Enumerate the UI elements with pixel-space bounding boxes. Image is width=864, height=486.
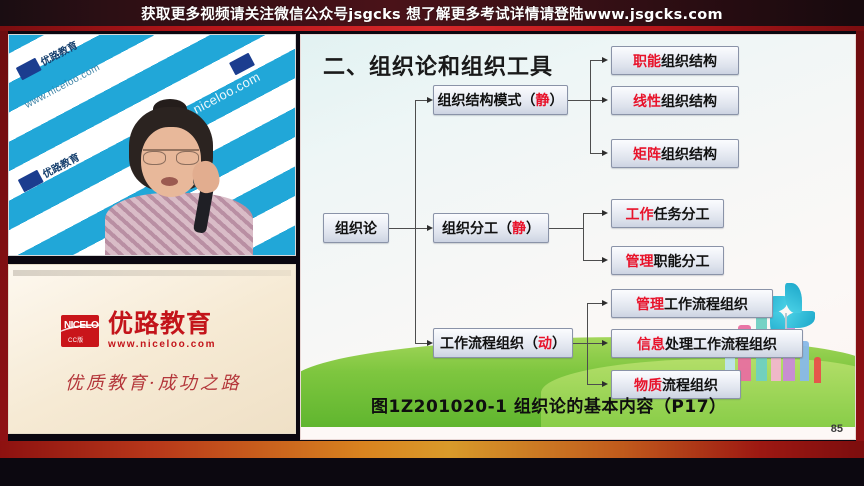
node-b3-child-2[interactable]: 信息处理工作流程组织 <box>611 329 803 358</box>
node-branch-3[interactable]: 工作流程组织（动） <box>433 328 573 358</box>
connector-b1-c1 <box>590 60 602 61</box>
connector-trunk <box>415 100 416 343</box>
letterbox-bottom <box>0 458 864 486</box>
connector-b2-out <box>549 228 583 229</box>
brand-tagline: 优质教育·成功之路 <box>65 369 242 395</box>
presenter-mouth <box>161 177 178 186</box>
node-b3-child-2-label: 信息处理工作流程组织 <box>637 334 777 354</box>
connector-b1-out <box>568 100 590 101</box>
node-b2-child-2[interactable]: 管理职能分工 <box>611 246 724 275</box>
slide-title: 二、组织论和组织工具 <box>323 49 553 81</box>
arrow-b2-c1 <box>602 210 608 216</box>
connector-to-branch-3 <box>415 343 427 344</box>
node-b3-child-1[interactable]: 管理工作流程组织 <box>611 289 773 318</box>
logo-mark-bottom-text: CC版 <box>68 335 84 344</box>
brand-wordmark: 优路教育 www.niceloo.com <box>108 311 216 350</box>
brand-name-cn: 优路教育 <box>108 311 216 336</box>
arrow-b3-c3 <box>602 381 608 387</box>
node-b2-child-1[interactable]: 工作任务分工 <box>611 199 724 228</box>
node-root-label: 组织论 <box>335 218 377 238</box>
node-b1-child-3[interactable]: 矩阵组织结构 <box>611 139 739 168</box>
node-b3-child-1-label: 管理工作流程组织 <box>636 294 748 314</box>
presenter-figure <box>101 105 251 255</box>
node-b1-child-1[interactable]: 职能组织结构 <box>611 46 739 75</box>
connector-b2-c1 <box>583 213 602 214</box>
arrow-b1-c2 <box>602 97 608 103</box>
pinwheel-blade-4 <box>785 283 802 313</box>
frame-right-border <box>856 31 864 441</box>
slide-page-number: 85 <box>831 423 843 435</box>
connector-b1-c3 <box>590 153 602 154</box>
node-branch-3-label: 工作流程组织（动） <box>440 333 566 353</box>
pinwheel-blade-1 <box>785 311 815 328</box>
screen: 获取更多视频请关注微信公众号jsgcks 想了解更多考试详情请登陆www.jsg… <box>0 0 864 486</box>
presentation-slide: 二、组织论和组织工具 <box>300 34 856 440</box>
brand-logo-row: NICELOO CC版 优路教育 www.niceloo.com <box>61 311 216 350</box>
connector-b2-c2 <box>583 260 602 261</box>
arrow-b3-c1 <box>602 300 608 306</box>
presenter-torso <box>105 193 253 255</box>
connector-to-branch-2 <box>415 228 427 229</box>
connector-to-branch-1 <box>415 100 427 101</box>
connector-root-out <box>389 228 415 229</box>
node-branch-2[interactable]: 组织分工（静） <box>433 213 549 243</box>
connector-b3-out <box>573 343 587 344</box>
promo-banner: 获取更多视频请关注微信公众号jsgcks 想了解更多考试详情请登陆www.jsg… <box>0 0 864 26</box>
node-branch-2-label: 组织分工（静） <box>442 218 540 238</box>
node-b2-child-1-label: 工作任务分工 <box>626 204 710 224</box>
arrow-b2-c2 <box>602 257 608 263</box>
node-branch-1-label: 组织结构模式（静） <box>438 90 564 110</box>
brand-url: www.niceloo.com <box>108 339 216 350</box>
node-b1-child-1-label: 职能组织结构 <box>633 51 717 71</box>
banner-underline <box>0 26 864 31</box>
slide-bottom-strip <box>301 427 855 439</box>
frame-bottom-border <box>0 441 864 458</box>
node-b1-child-2-label: 线性组织结构 <box>633 91 717 111</box>
node-b2-child-2-label: 管理职能分工 <box>626 251 710 271</box>
video-panel[interactable]: 优路教育 www.niceloo.com www.niceloo.com www… <box>8 34 296 256</box>
connector-b1-bus <box>590 60 591 153</box>
promo-banner-text: 获取更多视频请关注微信公众号jsgcks 想了解更多考试详情请登陆www.jsg… <box>141 3 723 24</box>
frame-left-border <box>0 31 8 441</box>
connector-b3-c1 <box>587 303 602 304</box>
connector-b3-c2 <box>587 343 602 344</box>
arrow-b3-c2 <box>602 340 608 346</box>
node-b1-child-3-label: 矩阵组织结构 <box>633 144 717 164</box>
connector-b3-c3 <box>587 384 602 385</box>
presenter-glasses <box>143 149 199 164</box>
node-branch-1[interactable]: 组织结构模式（静） <box>433 85 568 115</box>
figure-caption: 图1Z201020-1 组织论的基本内容（P17） <box>371 392 727 417</box>
arrow-b1-c1 <box>602 57 608 63</box>
panel-top-shading <box>13 270 291 276</box>
node-root[interactable]: 组织论 <box>323 213 389 243</box>
brand-logo-panel: NICELOO CC版 优路教育 www.niceloo.com 优质教育·成功… <box>8 264 296 434</box>
node-b1-child-2[interactable]: 线性组织结构 <box>611 86 739 115</box>
arrow-b1-c3 <box>602 150 608 156</box>
connector-b1-c2 <box>590 100 602 101</box>
connector-b2-bus <box>583 213 584 260</box>
building-7 <box>814 357 821 383</box>
niceloo-logo-icon: NICELOO CC版 <box>61 315 99 347</box>
